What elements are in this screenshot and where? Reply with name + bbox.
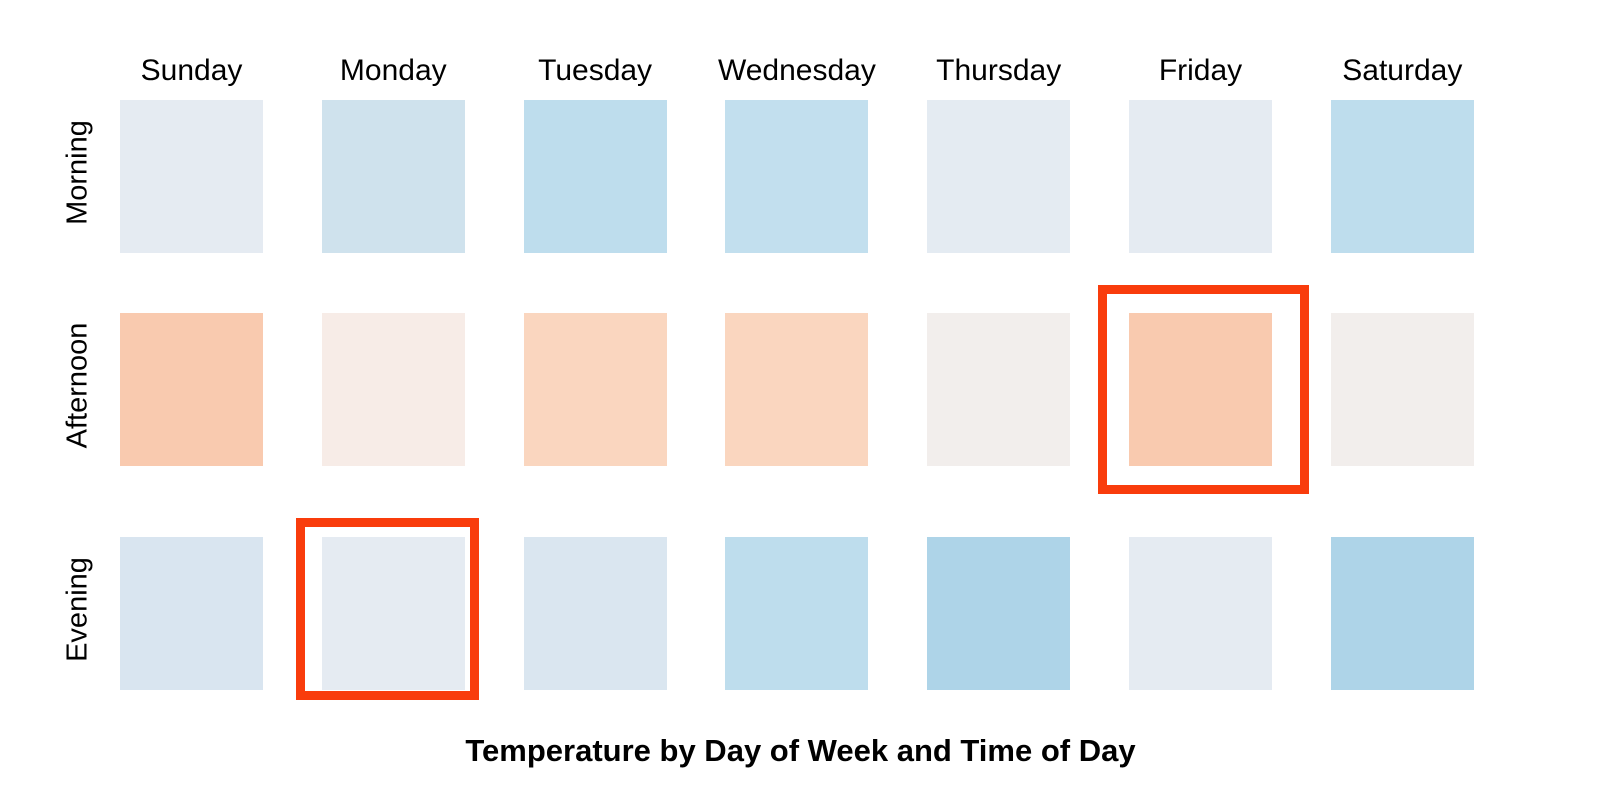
heatmap-cell[interactable]	[120, 100, 263, 253]
figure-title: Temperature by Day of Week and Time of D…	[0, 733, 1601, 769]
heatmap-cell[interactable]	[322, 313, 465, 466]
row-label-evening: Evening	[62, 529, 95, 689]
heatmap-cell[interactable]	[1331, 537, 1474, 690]
heatmap-cell[interactable]	[322, 100, 465, 253]
heatmap-figure: Sunday Monday Tuesday Wednesday Thursday…	[0, 0, 1601, 801]
heatmap-cell[interactable]	[725, 100, 868, 253]
heatmap-cell[interactable]	[1129, 100, 1272, 253]
row-label-morning: Morning	[62, 92, 95, 252]
heatmap-cell[interactable]	[524, 100, 667, 253]
heatmap-cell[interactable]	[524, 313, 667, 466]
heatmap-cell[interactable]	[927, 537, 1070, 690]
heatmap-cell[interactable]	[120, 313, 263, 466]
heatmap-cell[interactable]	[120, 537, 263, 690]
heatmap-cell[interactable]	[1129, 537, 1272, 690]
heatmap-cell[interactable]	[1129, 313, 1272, 466]
heatmap-cell[interactable]	[927, 313, 1070, 466]
row-label-afternoon: Afternoon	[62, 305, 95, 465]
heatmap-cell[interactable]	[725, 537, 868, 690]
column-header-saturday: Saturday	[1252, 50, 1552, 92]
heatmap-cell[interactable]	[524, 537, 667, 690]
heatmap-cell[interactable]	[322, 537, 465, 690]
heatmap-cell[interactable]	[1331, 100, 1474, 253]
heatmap-cell[interactable]	[927, 100, 1070, 253]
heatmap-cell[interactable]	[1331, 313, 1474, 466]
heatmap-cell[interactable]	[725, 313, 868, 466]
